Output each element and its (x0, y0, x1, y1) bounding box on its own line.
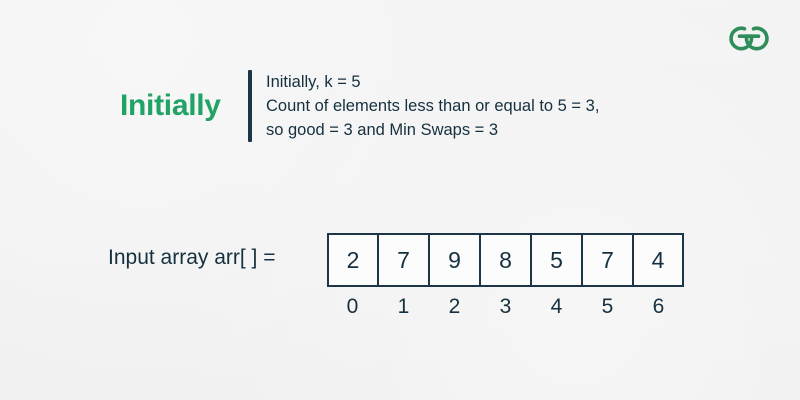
headline-block: Initially Initially, k = 5 Count of elem… (120, 70, 599, 142)
array-diagram: 2 7 9 8 5 7 4 0 1 2 3 4 5 6 (327, 233, 684, 319)
array-cell: 4 (633, 233, 684, 287)
headline-line-2: Count of elements less than or equal to … (266, 94, 599, 118)
array-index-row: 0 1 2 3 4 5 6 (327, 295, 684, 319)
array-index: 1 (378, 295, 429, 319)
array-cell: 2 (327, 233, 378, 287)
headline-line-1: Initially, k = 5 (266, 70, 599, 94)
array-cell: 8 (480, 233, 531, 287)
array-cell: 7 (378, 233, 429, 287)
array-index: 2 (429, 295, 480, 319)
array-index: 6 (633, 295, 684, 319)
background-wash (0, 0, 800, 400)
vertical-divider (248, 70, 252, 142)
array-index: 3 (480, 295, 531, 319)
array-cell: 7 (582, 233, 633, 287)
page-title: Initially (120, 91, 248, 121)
array-cell: 9 (429, 233, 480, 287)
array-cells-row: 2 7 9 8 5 7 4 (327, 233, 684, 287)
headline-description: Initially, k = 5 Count of elements less … (266, 70, 599, 142)
array-cell: 5 (531, 233, 582, 287)
array-index: 4 (531, 295, 582, 319)
array-index: 0 (327, 295, 378, 319)
array-label: Input array arr[ ] = (108, 246, 276, 270)
array-index: 5 (582, 295, 633, 319)
geeksforgeeks-logo (720, 18, 778, 52)
headline-line-3: so good = 3 and Min Swaps = 3 (266, 118, 599, 142)
